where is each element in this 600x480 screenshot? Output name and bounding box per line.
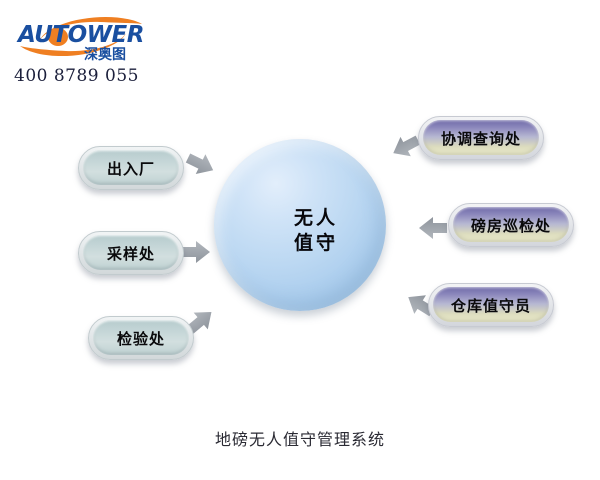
arrow-caiyangchu-to-hub	[182, 241, 210, 263]
hub-label: 无人 值守	[294, 206, 338, 255]
hub-label-line1: 无人	[294, 206, 338, 231]
node-jianyanchu[interactable]: 检验处	[88, 316, 194, 360]
node-xietiaochaxunchu[interactable]: 协调查询处	[418, 116, 544, 160]
node-jianyanchu-label: 检验处	[117, 328, 165, 349]
diagram-caption: 地磅无人值守管理系统	[0, 426, 600, 450]
node-churuchang[interactable]: 出入厂	[78, 146, 184, 190]
hub-node-unattended: 无人 值守	[214, 139, 386, 311]
node-bangfangxunjianchu[interactable]: 磅房巡检处	[448, 203, 574, 247]
node-cangkuzhishouyuan[interactable]: 仓库值守员	[428, 283, 554, 327]
node-caiyangchu-label: 采样处	[107, 243, 155, 264]
node-xietiaochaxunchu-label: 协调查询处	[441, 128, 521, 149]
node-churuchang-label: 出入厂	[107, 158, 155, 179]
hub-label-line2: 值守	[294, 231, 338, 256]
arrow-bangfangxunjianchu-to-hub	[419, 217, 447, 239]
node-caiyangchu[interactable]: 采样处	[78, 231, 184, 275]
arrow-churuchang-to-hub	[183, 148, 218, 180]
node-cangkuzhishouyuan-label: 仓库值守员	[451, 295, 531, 316]
node-bangfangxunjianchu-label: 磅房巡检处	[471, 215, 551, 236]
diagram-canvas: AUTOWER 深奥图 400 8789 055	[0, 0, 600, 480]
